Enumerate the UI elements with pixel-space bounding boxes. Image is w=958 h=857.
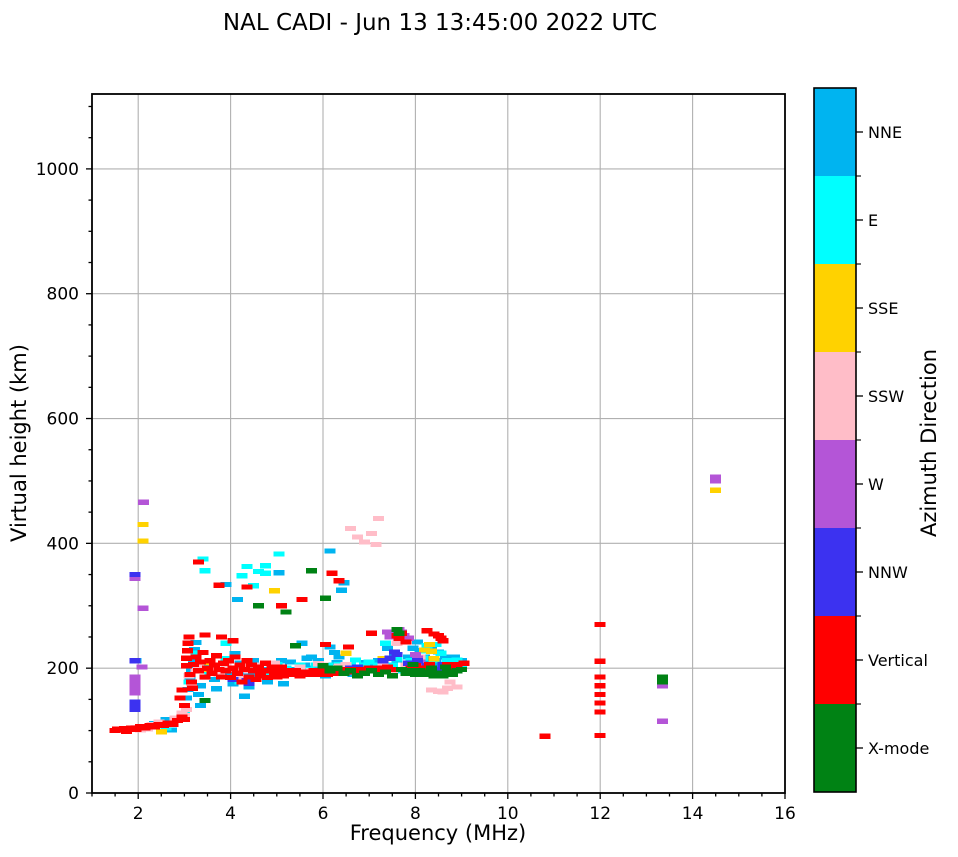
y-tick-label: 600: [47, 410, 79, 430]
colorbar-segment-vertical[interactable]: [814, 616, 856, 704]
colorbar-label-sse: SSE: [868, 299, 898, 318]
ionogram-figure: NAL CADI - Jun 13 13:45:00 2022 UTC 2468…: [0, 0, 958, 857]
x-tick-label: 16: [774, 804, 796, 824]
y-tick-label: 0: [68, 784, 79, 804]
y-tick-label: 1000: [36, 160, 79, 180]
series-sse: [137, 488, 721, 735]
axis-ticks: [86, 106, 785, 799]
colorbar-segment-nne[interactable]: [814, 88, 856, 176]
colorbar-label-w: W: [868, 475, 884, 494]
colorbar-label-nnw: NNW: [868, 563, 908, 582]
colorbar[interactable]: NNEESSESSWWNNWVerticalX-mode: [814, 88, 929, 792]
x-tick-label: 12: [589, 804, 611, 824]
colorbar-segment-w[interactable]: [814, 440, 856, 528]
colorbar-label-nne: NNE: [868, 123, 902, 142]
colorbar-label-vertical: Vertical: [868, 651, 928, 670]
colorbar-segment-nnw[interactable]: [814, 528, 856, 616]
y-axis-label: Virtual height (km): [7, 344, 31, 542]
x-tick-label: 14: [682, 804, 704, 824]
x-tick-label: 2: [133, 804, 144, 824]
y-tick-labels: 02004006008001000: [36, 160, 79, 804]
y-tick-label: 200: [47, 659, 79, 679]
colorbar-segment-x-mode[interactable]: [814, 704, 856, 792]
colorbar-label-ssw: SSW: [868, 387, 904, 406]
colorbar-label-e: E: [868, 211, 878, 230]
colorbar-segment-ssw[interactable]: [814, 352, 856, 440]
y-tick-label: 400: [47, 534, 79, 554]
plot-canvas: 246810121416 02004006008001000 Frequency…: [0, 0, 958, 857]
x-axis-label: Frequency (MHz): [350, 821, 526, 845]
colorbar-segment-e[interactable]: [814, 176, 856, 264]
colorbar-title: Azimuth Direction: [917, 349, 941, 537]
colorbar-segment-sse[interactable]: [814, 264, 856, 352]
x-tick-label: 6: [318, 804, 329, 824]
y-tick-label: 800: [47, 285, 79, 305]
colorbar-label-x-mode: X-mode: [868, 739, 929, 758]
x-tick-label: 4: [225, 804, 236, 824]
